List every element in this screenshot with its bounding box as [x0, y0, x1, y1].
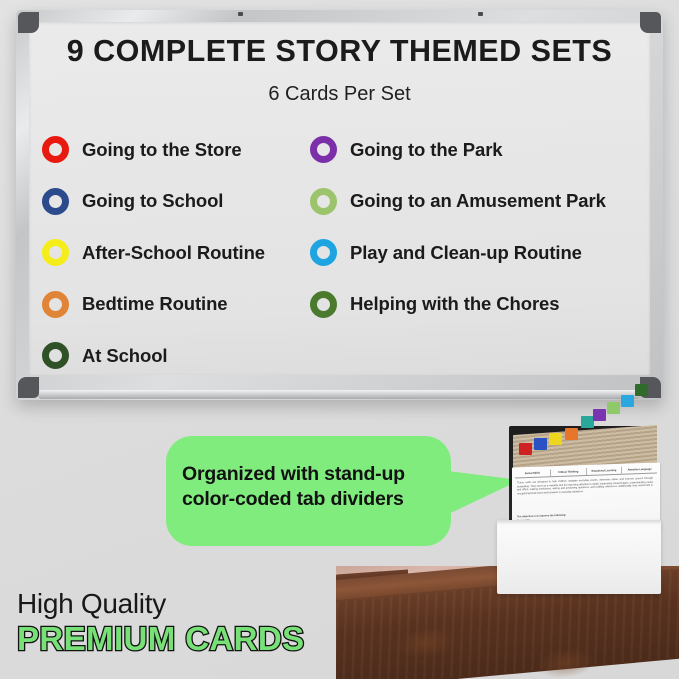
- story-set-label: Going to an Amusement Park: [350, 190, 606, 212]
- ring-marker-icon: [42, 136, 69, 163]
- frame-corner-cap: [18, 377, 39, 398]
- story-set-item: At School: [42, 330, 310, 382]
- sample-card-header-cell: Situational Learning: [587, 467, 623, 475]
- ring-marker-icon: [42, 239, 69, 266]
- story-set-label: Bedtime Routine: [82, 293, 227, 315]
- story-set-label: Going to the Park: [350, 139, 502, 161]
- ring-marker-icon: [310, 136, 337, 163]
- divider-tab: [549, 433, 562, 445]
- ring-marker-icon: [42, 342, 69, 369]
- callout-bubble: Organized with stand-up color-coded tab …: [166, 436, 451, 546]
- ring-marker-icon: [310, 239, 337, 266]
- sample-card-header-cell: Critical Thinking: [551, 468, 587, 476]
- divider-tab: [621, 395, 634, 407]
- divider-tab: [635, 384, 648, 396]
- ring-marker-icon: [42, 291, 69, 318]
- promo-line-1: High Quality: [17, 588, 305, 620]
- divider-tab: [607, 402, 620, 414]
- ring-marker-icon: [42, 188, 69, 215]
- promo-line-2: PREMIUM CARDS: [17, 620, 305, 658]
- frame-corner-cap: [640, 12, 661, 33]
- page-subtitle: 6 Cards Per Set: [16, 83, 663, 106]
- callout-line-1: Organized with stand-up: [182, 463, 405, 485]
- sample-card-header-cell: Social Skills: [515, 469, 551, 477]
- story-set-item: Helping with the Chores: [310, 279, 642, 331]
- product-infographic: 9 COMPLETE STORY THEMED SETS 6 Cards Per…: [0, 0, 679, 679]
- frame-corner-cap: [18, 12, 39, 33]
- story-sets-column-left: Going to the StoreGoing to SchoolAfter-S…: [42, 124, 310, 382]
- divider-tab: [534, 438, 547, 450]
- ring-marker-icon: [310, 291, 337, 318]
- sample-card-paragraph: These cards are designed to help childre…: [517, 477, 653, 496]
- story-set-label: Play and Clean-up Routine: [350, 242, 582, 264]
- story-set-item: Going to an Amusement Park: [310, 176, 642, 228]
- tray-screw: [238, 12, 243, 16]
- divider-tab: [565, 428, 578, 440]
- card-storage-box: Social SkillsCritical ThinkingSituationa…: [489, 424, 667, 600]
- marker-tray: [38, 390, 641, 399]
- story-set-label: Helping with the Chores: [350, 293, 559, 315]
- whiteboard: 9 COMPLETE STORY THEMED SETS 6 Cards Per…: [16, 10, 663, 400]
- callout-text: Organized with stand-up color-coded tab …: [182, 462, 440, 512]
- divider-tab: [519, 443, 532, 455]
- divider-tab: [593, 409, 606, 421]
- tray-screw: [478, 12, 483, 16]
- page-title: 9 COMPLETE STORY THEMED SETS: [16, 34, 663, 69]
- story-set-item: Going to the Park: [310, 124, 642, 176]
- story-set-label: Going to School: [82, 190, 223, 212]
- story-set-label: Going to the Store: [82, 139, 242, 161]
- story-set-item: After-School Routine: [42, 227, 310, 279]
- callout-line-2: color-coded tab dividers: [182, 488, 404, 510]
- story-sets-column-right: Going to the ParkGoing to an Amusement P…: [310, 124, 642, 330]
- sample-card-objective-title: The objective is to improve the followin…: [517, 514, 566, 519]
- ring-marker-icon: [310, 188, 337, 215]
- promo-block: High Quality PREMIUM CARDS: [17, 588, 305, 658]
- story-set-label: At School: [82, 345, 167, 367]
- story-set-label: After-School Routine: [82, 242, 265, 264]
- box-front-panel: [497, 520, 661, 594]
- box-front-lip: [497, 520, 661, 525]
- story-set-item: Play and Clean-up Routine: [310, 227, 642, 279]
- sample-card-header-cell: Attentive Language: [622, 466, 657, 474]
- story-set-item: Bedtime Routine: [42, 279, 310, 331]
- story-set-item: Going to School: [42, 176, 310, 228]
- story-set-item: Going to the Store: [42, 124, 310, 176]
